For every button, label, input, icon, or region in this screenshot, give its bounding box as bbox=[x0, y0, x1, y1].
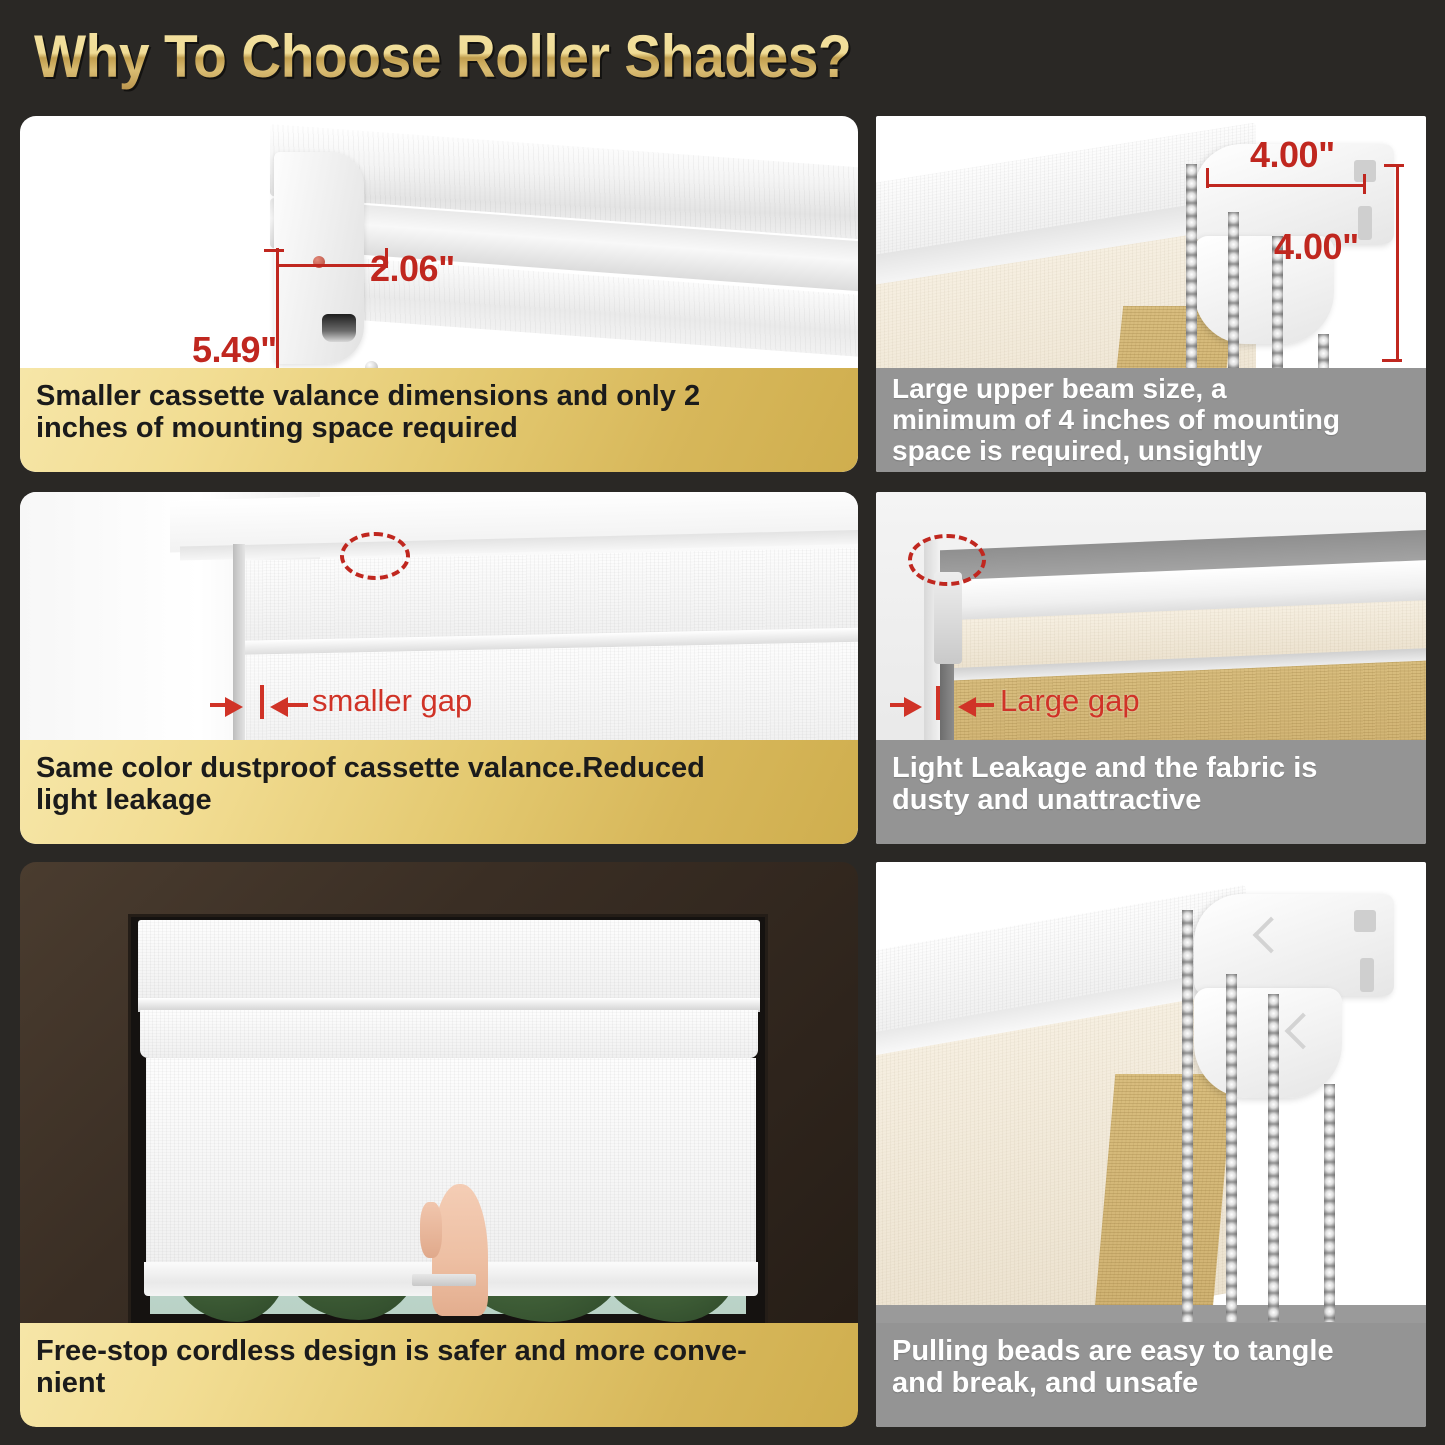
bead-chain-right[interactable] bbox=[1268, 994, 1279, 1322]
bracket-slot-mid bbox=[1360, 958, 1374, 992]
valance-lower-lip bbox=[140, 1010, 758, 1058]
bead-chain-left[interactable] bbox=[1182, 910, 1193, 1322]
caption-dustproof-valance: Same color dustproof cassette valance.Re… bbox=[20, 740, 858, 844]
width-dimension-label: 2.06" bbox=[370, 248, 455, 290]
bottom-rail-grip bbox=[412, 1274, 476, 1286]
caption-line-1: Large upper beam size, a bbox=[892, 374, 1410, 405]
panel-pulling-beads[interactable]: Pulling beads are easy to tangle and bre… bbox=[876, 862, 1426, 1427]
back-fabric bbox=[1093, 1074, 1234, 1332]
gap-highlight-circle bbox=[908, 534, 986, 586]
caption-line-1: Smaller cassette valance dimensions and … bbox=[36, 380, 842, 412]
beam-width-tick-left bbox=[1206, 168, 1209, 188]
page-title: Why To Choose Roller Shades? bbox=[34, 22, 851, 91]
gap-marker-bar bbox=[260, 685, 264, 719]
caption-light-leakage: Light Leakage and the fabric is dusty an… bbox=[876, 740, 1426, 844]
gap-highlight-circle bbox=[340, 532, 410, 580]
gap-callout-label: smaller gap bbox=[312, 683, 472, 719]
bead-chain-far-right[interactable] bbox=[1324, 1084, 1335, 1322]
gap-arrow-right bbox=[270, 697, 288, 717]
beam-width-dimension-line bbox=[1206, 184, 1366, 187]
hand bbox=[432, 1184, 488, 1316]
panel-large-upper-beam[interactable]: 4.00" 4.00" Large upper beam size, a min… bbox=[876, 116, 1426, 472]
beam-height-label: 4.00" bbox=[1274, 226, 1359, 268]
caption-line-2: light leakage bbox=[36, 784, 842, 816]
caption-cassette-valance: Smaller cassette valance dimensions and … bbox=[20, 368, 858, 472]
caption-line-2: minimum of 4 inches of mounting bbox=[892, 405, 1410, 436]
beam-width-tick-right bbox=[1363, 174, 1366, 194]
beam-height-tick-bottom bbox=[1382, 359, 1402, 362]
gap-arrow-right bbox=[958, 697, 976, 717]
beam-height-tick-top bbox=[1384, 164, 1404, 167]
valance-slot bbox=[322, 314, 356, 342]
hand-thumb bbox=[420, 1202, 442, 1258]
height-dimension-tick-top bbox=[264, 249, 284, 252]
cassette-valance bbox=[138, 920, 760, 1004]
panel-dustproof-valance[interactable]: smaller gap Same color dustproof cassett… bbox=[20, 492, 858, 844]
gap-arrow-left bbox=[225, 697, 243, 717]
height-dimension-label: 5.49" bbox=[192, 329, 277, 371]
caption-line-1: Light Leakage and the fabric is bbox=[892, 752, 1410, 784]
caption-pulling-beads: Pulling beads are easy to tangle and bre… bbox=[876, 1323, 1426, 1427]
caption-line-2: nient bbox=[36, 1367, 842, 1399]
caption-line-1: Same color dustproof cassette valance.Re… bbox=[36, 752, 842, 784]
caption-line-3: space is required, unsightly bbox=[892, 436, 1410, 467]
panel-cassette-valance[interactable]: 2.06" 5.49" Smaller cassette valance dim… bbox=[20, 116, 858, 472]
bracket-slot-top bbox=[1354, 910, 1376, 932]
caption-line-2: and break, and unsafe bbox=[892, 1367, 1410, 1399]
gap-marker-bar bbox=[936, 686, 940, 720]
caption-line-1: Pulling beads are easy to tangle bbox=[892, 1335, 1410, 1367]
caption-line-2: inches of mounting space required bbox=[36, 412, 842, 444]
beam-height-dimension-line bbox=[1396, 164, 1399, 362]
panel-light-leakage[interactable]: Large gap Light Leakage and the fabric i… bbox=[876, 492, 1426, 844]
beam-width-label: 4.00" bbox=[1250, 134, 1335, 176]
bracket-slot-mid bbox=[1358, 206, 1372, 240]
floor-shadow bbox=[876, 1305, 1426, 1323]
caption-cordless-design: Free-stop cordless design is safer and m… bbox=[20, 1323, 858, 1427]
bead-chain-mid[interactable] bbox=[1226, 974, 1237, 1322]
gap-arrow-right-tail bbox=[286, 703, 308, 707]
header-bar: Why To Choose Roller Shades? Why To Choo… bbox=[0, 0, 1445, 112]
gap-arrow-right-tail bbox=[974, 703, 994, 707]
panel-cordless-design[interactable]: Free-stop cordless design is safer and m… bbox=[20, 862, 858, 1427]
caption-line-1: Free-stop cordless design is safer and m… bbox=[36, 1335, 842, 1367]
caption-large-upper-beam: Large upper beam size, a minimum of 4 in… bbox=[876, 368, 1426, 472]
gap-arrow-left-tail bbox=[890, 703, 908, 707]
caption-line-2: dusty and unattractive bbox=[892, 784, 1410, 816]
gap-arrow-left-tail bbox=[210, 703, 228, 707]
gap-arrow-left bbox=[904, 697, 922, 717]
gap-callout-label: Large gap bbox=[1000, 683, 1140, 719]
